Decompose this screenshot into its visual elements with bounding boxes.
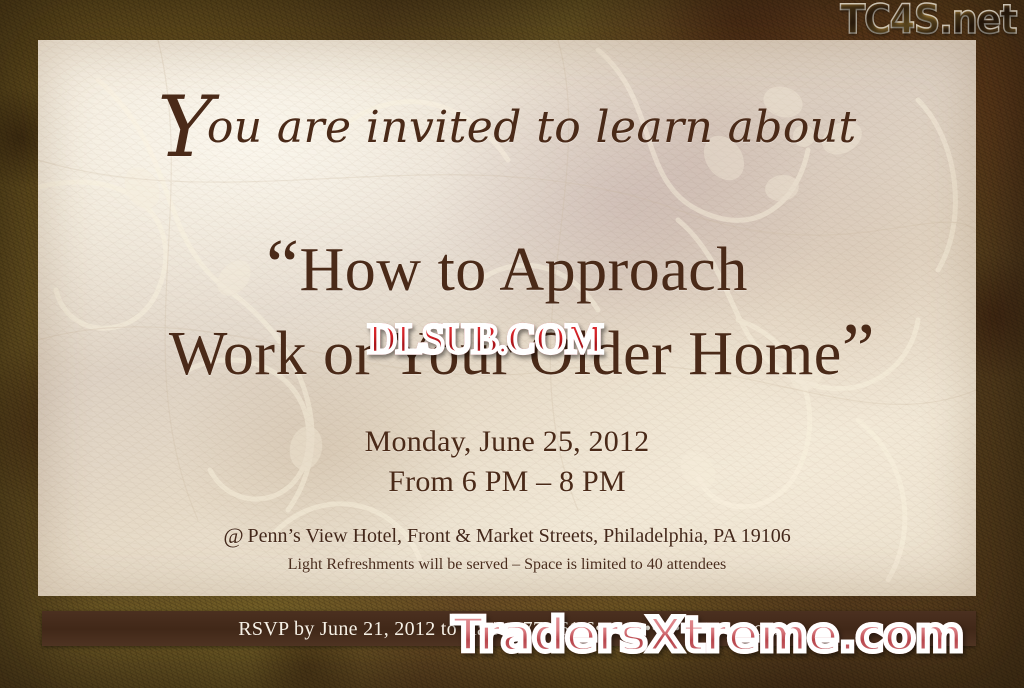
intro-line: You are invited to learn about xyxy=(38,102,976,153)
headline: “How to Approach Work or Your Older Home… xyxy=(38,226,976,394)
open-quote: “ xyxy=(266,225,299,307)
headline-line-1-text: How to Approach xyxy=(300,236,748,304)
invitation-flyer: You are invited to learn about “How to A… xyxy=(0,0,1024,688)
event-datetime: Monday, June 25, 2012 From 6 PM – 8 PM xyxy=(38,422,976,502)
event-venue: @Penn’s View Hotel, Front & Market Stree… xyxy=(38,522,976,548)
event-venue-text: Penn’s View Hotel, Front & Market Street… xyxy=(248,525,791,547)
intro-dropcap: Y xyxy=(157,78,210,176)
event-time: From 6 PM – 8 PM xyxy=(38,462,976,502)
event-date: Monday, June 25, 2012 xyxy=(38,422,976,462)
watermark-dlsub: DLSUB.COM xyxy=(368,318,602,362)
intro-text: ou are invited to learn about xyxy=(207,102,857,153)
watermark-tc4s: TC4S.net xyxy=(840,0,1016,42)
event-note: Light Refreshments will be served – Spac… xyxy=(38,556,976,574)
watermark-tradersxtreme: TradersXtreme.com xyxy=(452,610,964,662)
at-symbol-icon: @ xyxy=(223,523,243,549)
headline-line-1: “How to Approach xyxy=(38,226,976,310)
close-quote: ” xyxy=(842,309,875,391)
